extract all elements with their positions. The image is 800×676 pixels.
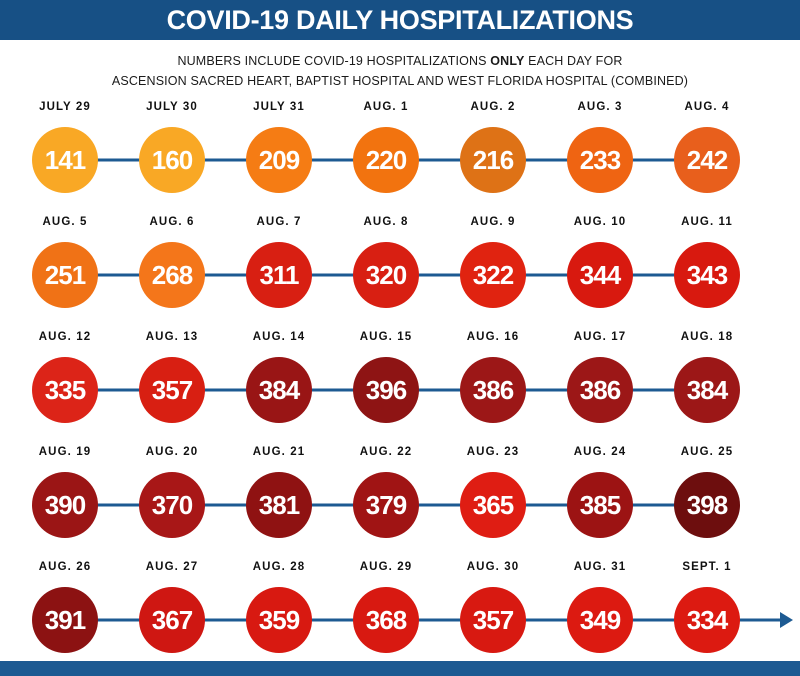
data-point-circle[interactable]: 334 xyxy=(674,587,740,653)
data-point-value: 385 xyxy=(580,492,620,518)
data-point-circle[interactable]: 386 xyxy=(567,357,633,423)
covid-hospitalizations-infographic: COVID-19 DAILY HOSPITALIZATIONS NUMBERS … xyxy=(0,0,800,676)
connector-line xyxy=(310,389,355,392)
date-label: AUG. 5 xyxy=(43,216,88,228)
data-point-circle[interactable]: 242 xyxy=(674,127,740,193)
connector-line xyxy=(96,159,141,162)
subtitle-line-1-before: NUMBERS INCLUDE COVID-19 HOSPITALIZATION… xyxy=(177,54,490,68)
data-point-circle[interactable]: 251 xyxy=(32,242,98,308)
data-point-circle[interactable]: 322 xyxy=(460,242,526,308)
data-point-value: 391 xyxy=(45,607,85,633)
date-label: AUG. 28 xyxy=(253,561,305,573)
connector-line xyxy=(203,619,248,622)
data-point-circle[interactable]: 384 xyxy=(246,357,312,423)
data-point-circle[interactable]: 349 xyxy=(567,587,633,653)
timeline-row: JULY 29JULY 30JULY 31AUG. 1AUG. 2AUG. 3A… xyxy=(0,98,800,213)
data-point-circle[interactable]: 357 xyxy=(139,357,205,423)
date-label: AUG. 17 xyxy=(574,331,626,343)
connector-line xyxy=(524,389,569,392)
data-point-value: 386 xyxy=(580,377,620,403)
data-point-circle[interactable]: 311 xyxy=(246,242,312,308)
connector-line xyxy=(96,504,141,507)
header-bar: COVID-19 DAILY HOSPITALIZATIONS xyxy=(0,0,800,40)
data-point-circle[interactable]: 233 xyxy=(567,127,633,193)
connector-line xyxy=(631,274,676,277)
data-point-strip: 251268311320322344343 xyxy=(0,235,800,315)
data-point-value: 311 xyxy=(260,262,299,288)
connector-line xyxy=(631,619,676,622)
connector-line xyxy=(524,504,569,507)
data-point-value: 367 xyxy=(152,607,192,633)
timeline-row: AUG. 19AUG. 20AUG. 21AUG. 22AUG. 23AUG. … xyxy=(0,443,800,558)
page-title: COVID-19 DAILY HOSPITALIZATIONS xyxy=(167,7,634,34)
date-label: AUG. 24 xyxy=(574,446,626,458)
date-label: AUG. 22 xyxy=(360,446,412,458)
date-label: AUG. 2 xyxy=(471,101,516,113)
data-point-circle[interactable]: 343 xyxy=(674,242,740,308)
connector-line xyxy=(524,619,569,622)
data-point-value: 365 xyxy=(473,492,513,518)
data-point-value: 160 xyxy=(152,147,192,173)
connector-line xyxy=(203,504,248,507)
data-point-circle[interactable]: 381 xyxy=(246,472,312,538)
data-point-circle[interactable]: 386 xyxy=(460,357,526,423)
timeline-row: AUG. 12AUG. 13AUG. 14AUG. 15AUG. 16AUG. … xyxy=(0,328,800,443)
connector-line xyxy=(310,159,355,162)
data-point-value: 349 xyxy=(580,607,620,633)
data-point-value: 251 xyxy=(45,262,85,288)
data-point-value: 379 xyxy=(366,492,406,518)
data-point-value: 233 xyxy=(580,147,620,173)
data-point-value: 242 xyxy=(687,147,727,173)
data-point-value: 343 xyxy=(687,262,727,288)
data-point-value: 384 xyxy=(259,377,299,403)
date-label-strip: AUG. 12AUG. 13AUG. 14AUG. 15AUG. 16AUG. … xyxy=(0,328,800,350)
connector-line xyxy=(203,389,248,392)
connector-line xyxy=(631,389,676,392)
data-point-circle[interactable]: 160 xyxy=(139,127,205,193)
date-label: AUG. 11 xyxy=(681,216,733,228)
date-label: AUG. 14 xyxy=(253,331,305,343)
arrow-right-icon xyxy=(780,612,793,628)
connector-line xyxy=(96,619,141,622)
date-label-strip: AUG. 19AUG. 20AUG. 21AUG. 22AUG. 23AUG. … xyxy=(0,443,800,465)
date-label: AUG. 21 xyxy=(253,446,305,458)
connector-line xyxy=(310,274,355,277)
connector-line-tail xyxy=(738,619,780,622)
date-label: AUG. 29 xyxy=(360,561,412,573)
date-label: AUG. 26 xyxy=(39,561,91,573)
data-point-strip: 390370381379365385398 xyxy=(0,465,800,545)
date-label: AUG. 9 xyxy=(471,216,516,228)
date-label: AUG. 8 xyxy=(364,216,409,228)
connector-line xyxy=(524,274,569,277)
data-point-circle[interactable]: 384 xyxy=(674,357,740,423)
date-label: SEPT. 1 xyxy=(682,561,731,573)
data-point-value: 344 xyxy=(580,262,620,288)
data-point-value: 386 xyxy=(473,377,513,403)
date-label-strip: AUG. 5AUG. 6AUG. 7AUG. 8AUG. 9AUG. 10AUG… xyxy=(0,213,800,235)
connector-line xyxy=(310,619,355,622)
data-point-value: 381 xyxy=(259,492,299,518)
data-point-value: 384 xyxy=(687,377,727,403)
data-point-circle[interactable]: 396 xyxy=(353,357,419,423)
data-point-circle[interactable]: 268 xyxy=(139,242,205,308)
data-point-circle[interactable]: 141 xyxy=(32,127,98,193)
data-point-value: 359 xyxy=(259,607,299,633)
data-point-circle[interactable]: 359 xyxy=(246,587,312,653)
connector-line xyxy=(417,274,462,277)
data-point-circle[interactable]: 370 xyxy=(139,472,205,538)
date-label: AUG. 27 xyxy=(146,561,198,573)
data-point-value: 390 xyxy=(45,492,85,518)
timeline-rows: JULY 29JULY 30JULY 31AUG. 1AUG. 2AUG. 3A… xyxy=(0,91,800,676)
subtitle-line-2: ASCENSION SACRED HEART, BAPTIST HOSPITAL… xyxy=(0,71,800,91)
connector-line xyxy=(310,504,355,507)
data-point-strip: 335357384396386386384 xyxy=(0,350,800,430)
data-point-circle[interactable]: 209 xyxy=(246,127,312,193)
date-label: AUG. 7 xyxy=(257,216,302,228)
connector-line xyxy=(631,159,676,162)
data-point-circle[interactable]: 367 xyxy=(139,587,205,653)
date-label: AUG. 18 xyxy=(681,331,733,343)
date-label: JULY 30 xyxy=(146,101,198,113)
data-point-circle[interactable]: 368 xyxy=(353,587,419,653)
date-label: AUG. 30 xyxy=(467,561,519,573)
data-point-value: 322 xyxy=(473,262,513,288)
data-point-circle[interactable]: 365 xyxy=(460,472,526,538)
date-label: AUG. 12 xyxy=(39,331,91,343)
data-point-value: 357 xyxy=(473,607,513,633)
data-point-circle[interactable]: 379 xyxy=(353,472,419,538)
data-point-value: 398 xyxy=(687,492,727,518)
connector-line xyxy=(203,274,248,277)
data-point-value: 335 xyxy=(45,377,85,403)
data-point-circle[interactable]: 398 xyxy=(674,472,740,538)
date-label: JULY 31 xyxy=(253,101,305,113)
subtitle-line-1-after: EACH DAY FOR xyxy=(524,54,622,68)
subtitle-line-1: NUMBERS INCLUDE COVID-19 HOSPITALIZATION… xyxy=(0,51,800,71)
data-point-circle[interactable]: 391 xyxy=(32,587,98,653)
connector-line xyxy=(631,504,676,507)
date-label: AUG. 20 xyxy=(146,446,198,458)
connector-line xyxy=(524,159,569,162)
data-point-value: 320 xyxy=(366,262,406,288)
connector-line xyxy=(417,504,462,507)
date-label: AUG. 25 xyxy=(681,446,733,458)
data-point-value: 368 xyxy=(366,607,406,633)
data-point-circle[interactable]: 335 xyxy=(32,357,98,423)
data-point-value: 370 xyxy=(152,492,192,518)
subtitle-block: NUMBERS INCLUDE COVID-19 HOSPITALIZATION… xyxy=(0,40,800,91)
date-label: AUG. 15 xyxy=(360,331,412,343)
date-label: AUG. 6 xyxy=(150,216,195,228)
data-point-value: 357 xyxy=(152,377,192,403)
date-label-strip: AUG. 26AUG. 27AUG. 28AUG. 29AUG. 30AUG. … xyxy=(0,558,800,580)
date-label-strip: JULY 29JULY 30JULY 31AUG. 1AUG. 2AUG. 3A… xyxy=(0,98,800,120)
connector-line xyxy=(96,274,141,277)
data-point-value: 220 xyxy=(366,147,406,173)
data-point-circle[interactable]: 357 xyxy=(460,587,526,653)
data-point-circle[interactable]: 385 xyxy=(567,472,633,538)
date-label: AUG. 1 xyxy=(364,101,409,113)
data-point-value: 209 xyxy=(259,147,299,173)
data-point-circle[interactable]: 344 xyxy=(567,242,633,308)
connector-line xyxy=(417,619,462,622)
date-label: AUG. 4 xyxy=(685,101,730,113)
data-point-strip: 141160209220216233242 xyxy=(0,120,800,200)
date-label: AUG. 23 xyxy=(467,446,519,458)
connector-line xyxy=(96,389,141,392)
data-point-value: 334 xyxy=(687,607,727,633)
date-label: AUG. 13 xyxy=(146,331,198,343)
footer-bar xyxy=(0,661,800,676)
data-point-value: 216 xyxy=(473,147,513,173)
date-label: AUG. 19 xyxy=(39,446,91,458)
data-point-circle[interactable]: 216 xyxy=(460,127,526,193)
data-point-circle[interactable]: 390 xyxy=(32,472,98,538)
connector-line xyxy=(417,389,462,392)
date-label: JULY 29 xyxy=(39,101,91,113)
data-point-strip: 391367359368357349334 xyxy=(0,580,800,660)
data-point-circle[interactable]: 320 xyxy=(353,242,419,308)
data-point-circle[interactable]: 220 xyxy=(353,127,419,193)
timeline-row: AUG. 5AUG. 6AUG. 7AUG. 8AUG. 9AUG. 10AUG… xyxy=(0,213,800,328)
data-point-value: 396 xyxy=(366,377,406,403)
data-point-value: 268 xyxy=(152,262,192,288)
connector-line xyxy=(417,159,462,162)
date-label: AUG. 16 xyxy=(467,331,519,343)
date-label: AUG. 10 xyxy=(574,216,626,228)
connector-line xyxy=(203,159,248,162)
date-label: AUG. 31 xyxy=(574,561,626,573)
timeline-row: AUG. 26AUG. 27AUG. 28AUG. 29AUG. 30AUG. … xyxy=(0,558,800,673)
date-label: AUG. 3 xyxy=(578,101,623,113)
subtitle-emphasis-only: ONLY xyxy=(490,54,524,68)
data-point-value: 141 xyxy=(45,147,85,173)
